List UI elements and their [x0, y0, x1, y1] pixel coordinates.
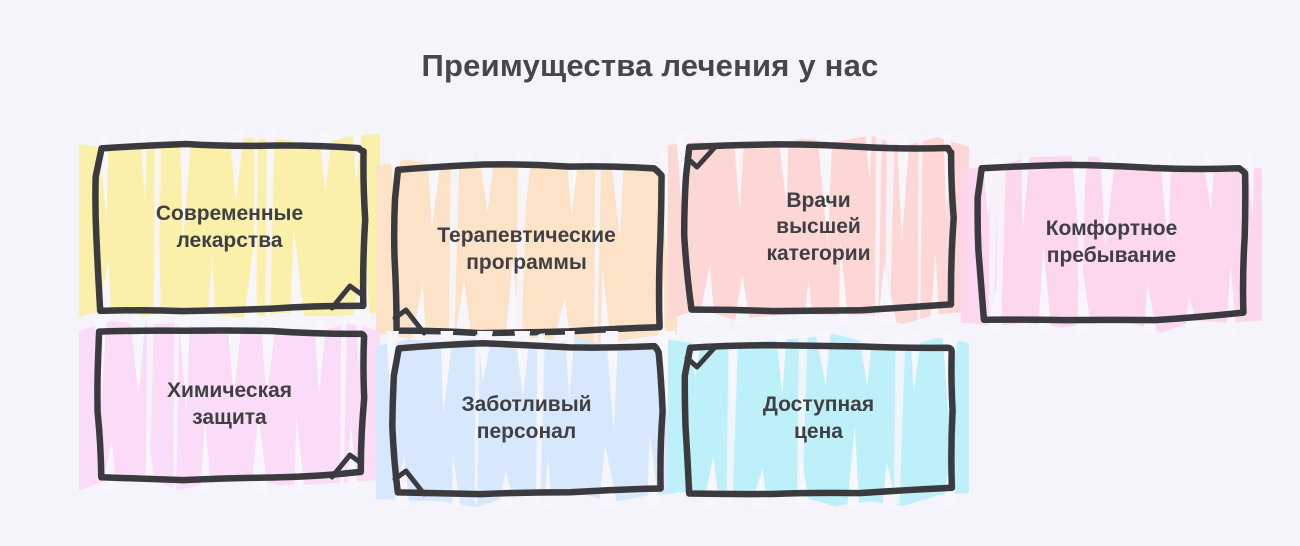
page-title: Преимущества лечения у нас — [0, 48, 1300, 84]
card-artwork — [368, 319, 685, 519]
marker-highlight-fill — [77, 127, 382, 328]
card-artwork — [71, 305, 388, 505]
card-artwork — [71, 119, 388, 336]
marker-highlight-fill — [666, 327, 971, 511]
marker-highlight-fill — [959, 149, 1264, 337]
card-artwork — [660, 119, 977, 336]
benefit-card-top-category-doctors[interactable]: Врачи высшей категории — [686, 145, 951, 310]
infographic-canvas: Преимущества лечения у нас Современные л… — [0, 0, 1300, 546]
benefit-card-affordable-price[interactable]: Доступная цена — [686, 345, 951, 493]
marker-highlight-fill — [666, 127, 971, 328]
card-artwork — [660, 319, 977, 519]
benefit-card-comfortable-stay[interactable]: Комфортное пребывание — [979, 167, 1244, 319]
benefit-card-chemical-protection[interactable]: Химическая защита — [97, 331, 362, 479]
benefit-card-caring-staff[interactable]: Заботливый персонал — [394, 345, 659, 493]
card-artwork — [953, 141, 1270, 345]
benefit-card-modern-medicines[interactable]: Современные лекарства — [97, 145, 362, 310]
marker-highlight-fill — [374, 327, 679, 511]
benefit-card-therapeutic-programs[interactable]: Терапевтические программы — [394, 167, 659, 332]
